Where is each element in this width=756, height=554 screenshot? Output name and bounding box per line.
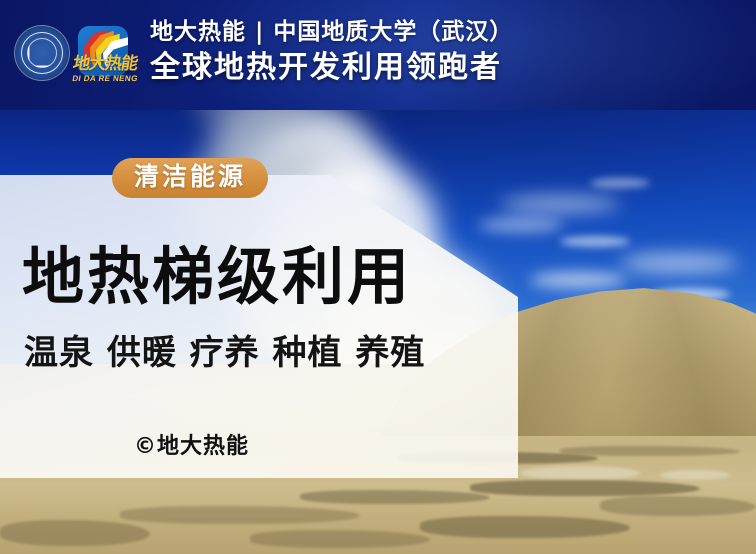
header-line-slogan: 全球地热开发利用领跑者	[150, 51, 513, 86]
ground-streak	[470, 480, 700, 496]
ground-streak	[560, 446, 740, 456]
brand-header: 地大热能 DI DA RE NENG 地大热能 | 中国地质大学（武汉） 全球地…	[0, 0, 756, 110]
logo-wordmark-pinyin: DI DA RE NENG	[61, 75, 148, 83]
page-title: 地热梯级利用	[22, 246, 412, 308]
page-subtitle: 温泉 供暖 疗养 种植 养殖	[24, 336, 425, 370]
ground-streak	[0, 520, 150, 546]
ground-streak	[250, 530, 430, 548]
cloud-wisp	[590, 178, 650, 188]
cloud-wisp	[500, 196, 620, 212]
ground-streak	[420, 516, 630, 538]
ground-streak	[600, 496, 756, 516]
cloud-wisp	[620, 254, 738, 272]
header-line-org: 地大热能 | 中国地质大学（武汉）	[150, 18, 513, 47]
cloud-wisp	[478, 218, 564, 232]
logo-wordmark-cn: 地大热能	[61, 56, 150, 73]
ground-salt-patch	[520, 466, 640, 480]
cloud-wisp	[560, 236, 630, 247]
ground-streak	[300, 490, 490, 504]
ground-streak	[120, 506, 360, 524]
poster-banner: 地大热能 DI DA RE NENG 地大热能 | 中国地质大学（武汉） 全球地…	[0, 0, 756, 554]
ground-salt-patch	[660, 470, 730, 480]
logo-wordmark: 地大热能 DI DA RE NENG	[62, 56, 148, 83]
cloud-wisp	[530, 272, 626, 288]
header-text-block: 地大热能 | 中国地质大学（武汉） 全球地热开发利用领跑者	[150, 18, 513, 85]
status-badge: 清洁能源	[112, 158, 268, 198]
copyright-notice: ©地大热能	[134, 436, 249, 458]
